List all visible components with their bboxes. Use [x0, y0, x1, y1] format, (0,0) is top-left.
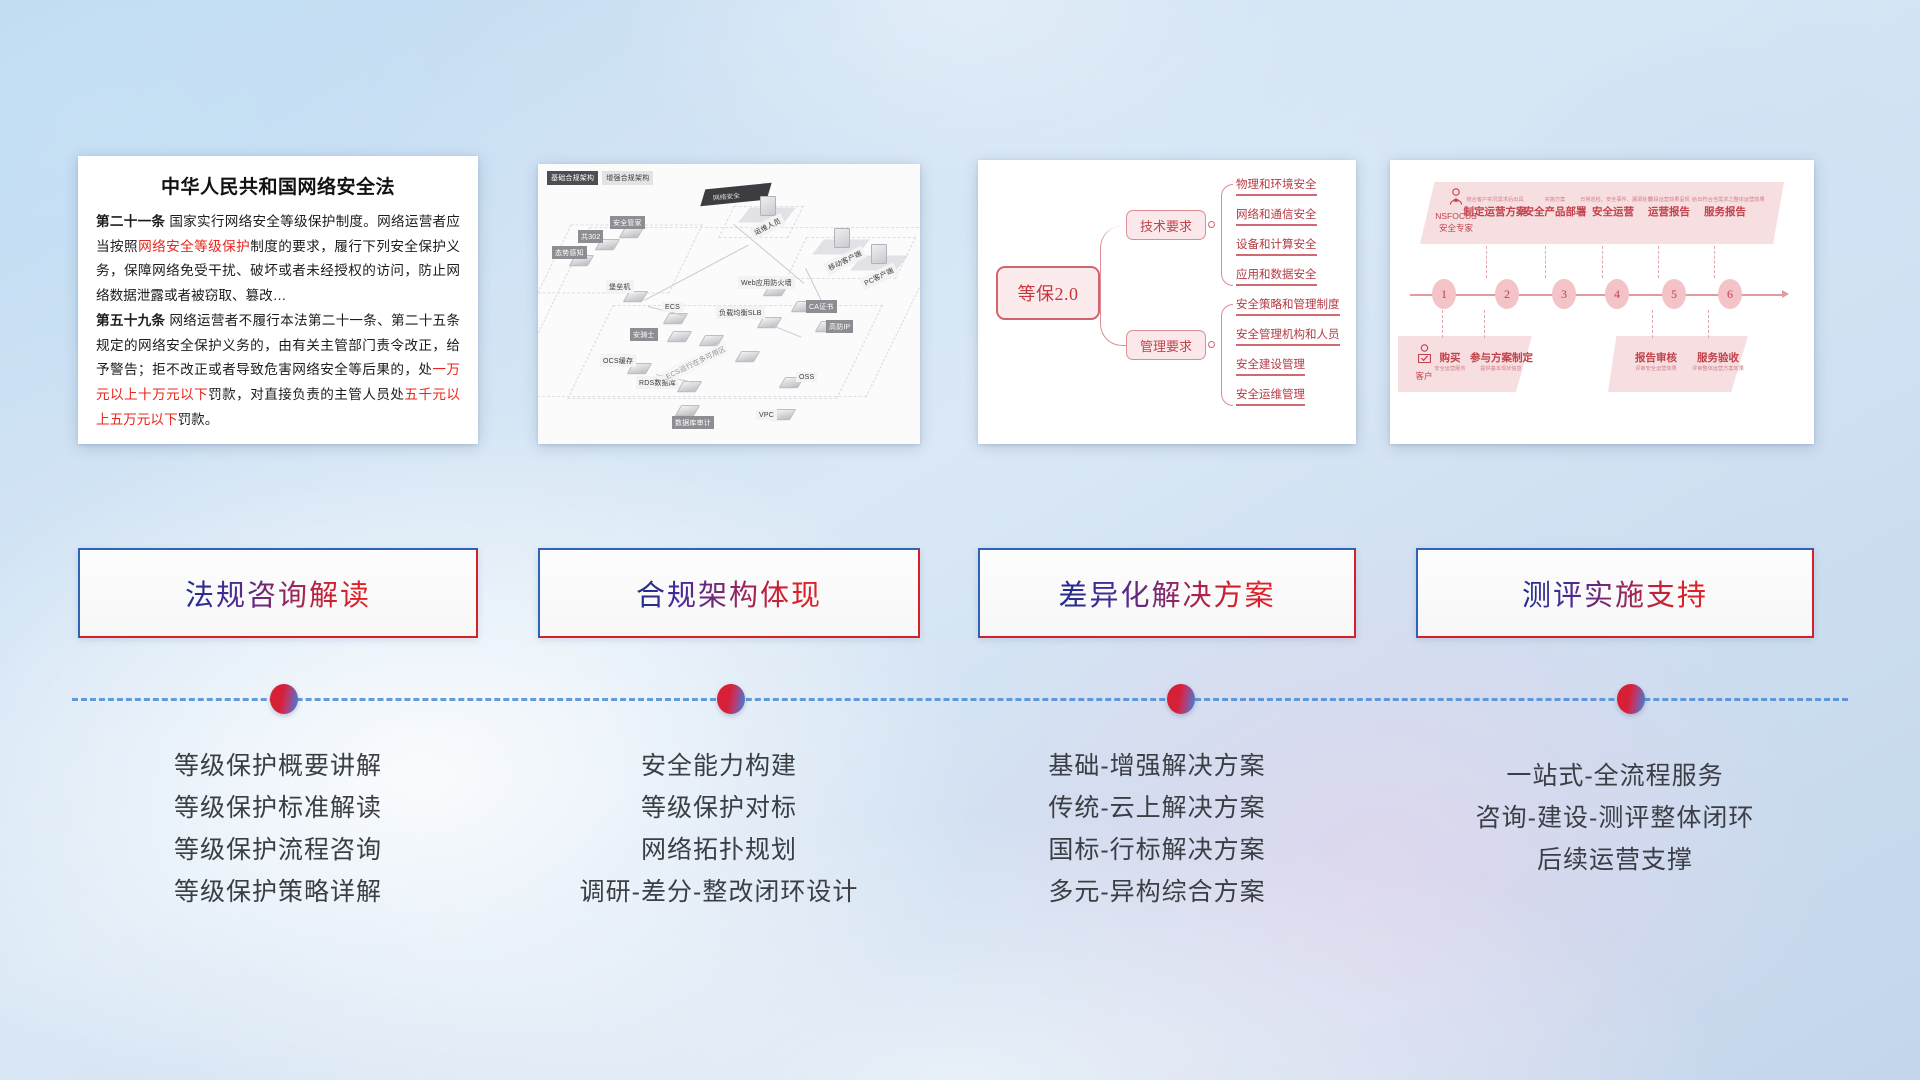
- mindmap-spine-tech-down: [1221, 224, 1233, 286]
- law-article-21-label: 第二十一条: [96, 214, 165, 229]
- timeline-node-6[interactable]: 6: [1718, 279, 1742, 309]
- detail-item: 咨询-建设-测评整体闭环: [1380, 797, 1850, 839]
- timeline-dash-bottom-6: [1708, 310, 1709, 338]
- detail-item: 多元-异构综合方案: [938, 871, 1376, 913]
- detail-column-3: 基础-增强解决方案 传统-云上解决方案 国标-行标解决方案 多元-异构综合方案: [938, 745, 1376, 913]
- arch-node-database-audit: 数据库审计: [672, 416, 714, 429]
- timeline-node-2[interactable]: 2: [1495, 279, 1519, 309]
- button-label-0: 法规咨询解读: [185, 572, 371, 614]
- timeline-dash-top-5: [1658, 246, 1659, 278]
- timeline-dash-top-6: [1714, 246, 1715, 278]
- timeline-dash-top-4: [1602, 246, 1603, 278]
- detail-item: 安全能力构建: [500, 745, 938, 787]
- arch-tab-basic[interactable]: 基础合规架构: [547, 171, 598, 185]
- detail-item: 传统-云上解决方案: [938, 787, 1376, 829]
- detail-column-1: 等级保护概要讲解 等级保护标准解读 等级保护流程咨询 等级保护策略详解: [56, 745, 500, 913]
- arch-node-vpc: VPC: [756, 410, 777, 420]
- mindmap-curve-mgmt: [1100, 292, 1126, 346]
- mindmap-collapse-dot-technical[interactable]: [1208, 221, 1215, 228]
- mindmap-leaf-mgmt-3: 安全运维管理: [1236, 386, 1305, 406]
- detail-item: 等级保护标准解读: [56, 787, 500, 829]
- arch-node-anti-ddos-ip: 高防IP: [826, 320, 853, 333]
- arch-node-ca-certificate: CA证书: [806, 300, 837, 313]
- law-title: 中华人民共和国网络安全法: [96, 172, 460, 199]
- timeline-bottom-step-3: 报告审核 评审安全运营效果: [1628, 350, 1684, 373]
- architecture-tabs: 基础合规架构 增强合规架构: [547, 171, 653, 185]
- arch-icon-mobile-monitor: [834, 228, 850, 248]
- mindmap-leaf-tech-3: 应用和数据安全: [1236, 266, 1317, 286]
- arch-icon-cube-dbaudit: [675, 405, 700, 416]
- rail-dot-1[interactable]: [270, 684, 298, 714]
- timeline-rail: [72, 698, 1848, 700]
- timeline-vendor-sub: 安全专家: [1428, 222, 1484, 234]
- detail-item: 后续运营支撑: [1380, 839, 1850, 881]
- arch-node-oss: OSS: [796, 372, 817, 382]
- law-article-21-highlight: 网络安全等级保护: [138, 239, 250, 254]
- button-compliance-architecture[interactable]: 合规架构体现: [538, 548, 920, 638]
- arch-node-ecs: ECS: [662, 302, 683, 312]
- detail-item: 等级保护概要讲解: [56, 745, 500, 787]
- law-article-59: 第五十九条 网络运营者不履行本法第二十一条、第二十五条规定的网络安全保护义务的，…: [96, 309, 460, 433]
- timeline-arrow-icon: [1782, 290, 1789, 298]
- detail-item: 等级保护策略详解: [56, 871, 500, 913]
- rail-dot-2[interactable]: [717, 684, 745, 714]
- timeline-node-5[interactable]: 5: [1662, 279, 1686, 309]
- timeline-node-3[interactable]: 3: [1552, 279, 1576, 309]
- detail-item: 等级保护对标: [500, 787, 938, 829]
- law-body: 第二十一条 国家实行网络安全等级保护制度。网络运营者应当按照网络安全等级保护制度…: [96, 210, 460, 433]
- timeline-canvas: NSFOCUS 安全专家 客户 1 2 3 4 5 6: [1390, 160, 1814, 444]
- mindmap-canvas: 等保2.0 技术要求 管理要求 物理和环境安全 网络和通信安全 设备和计算安全 …: [978, 160, 1356, 444]
- mindmap-leaf-tech-0: 物理和环境安全: [1236, 176, 1317, 196]
- law-article-59-p2: 罚款，对直接负责的主管人员处: [208, 387, 404, 402]
- timeline-dash-bottom-5: [1652, 310, 1653, 338]
- mindmap-root-node[interactable]: 等保2.0: [996, 266, 1100, 320]
- button-differentiated-solution[interactable]: 差异化解决方案: [978, 548, 1356, 638]
- mindmap-leaf-mgmt-0: 安全策略和管理制度: [1236, 296, 1340, 316]
- arch-node-situational: 态势感知: [552, 246, 587, 259]
- button-label-2: 差异化解决方案: [1058, 572, 1275, 614]
- detail-item: 基础-增强解决方案: [938, 745, 1376, 787]
- button-assessment-support[interactable]: 测评实施支持: [1416, 548, 1814, 638]
- arch-node-ocs-cache: OCS缓存: [600, 354, 636, 367]
- mindmap-curve-tech: [1100, 226, 1126, 294]
- detail-item: 等级保护流程咨询: [56, 829, 500, 871]
- arch-node-waf: Web应用防火墙: [738, 276, 795, 289]
- card-cybersecurity-law[interactable]: 中华人民共和国网络安全法 第二十一条 国家实行网络安全等级保护制度。网络运营者应…: [78, 156, 478, 444]
- timeline-bottom-step-1: 购买 安全运营服务: [1430, 350, 1470, 373]
- mindmap-leaf-mgmt-2: 安全建设管理: [1236, 356, 1305, 376]
- architecture-canvas: 基础合规架构 增强合规架构 网络安全: [538, 164, 920, 444]
- mindmap-leaf-mgmt-1: 安全管理机构和人员: [1236, 326, 1340, 346]
- timeline-bottom-step-4: 服务验收 评审整体运营方案效果: [1688, 350, 1748, 373]
- timeline-top-step-5: 给出符合当需求之整体运营效果 服务报告: [1692, 196, 1758, 219]
- detail-column-4: 一站式-全流程服务 咨询-建设-测评整体闭环 后续运营支撑: [1380, 755, 1850, 881]
- cards-row: 中华人民共和国网络安全法 第二十一条 国家实行网络安全等级保护制度。网络运营者应…: [0, 152, 1920, 452]
- detail-columns: 等级保护概要讲解 等级保护标准解读 等级保护流程咨询 等级保护策略详解 安全能力…: [0, 745, 1920, 1005]
- timeline-node-4[interactable]: 4: [1605, 279, 1629, 309]
- arch-node-bastion-host: 堡垒机: [606, 280, 634, 293]
- timeline-top-step-1: 结合客户实况需求后出具 制定运营方案: [1462, 196, 1528, 219]
- mindmap-leaf-tech-2: 设备和计算安全: [1236, 236, 1317, 256]
- arch-icon-ops-monitor: [760, 196, 776, 216]
- mindmap-branch-technical[interactable]: 技术要求: [1126, 210, 1206, 240]
- button-regulation-consulting[interactable]: 法规咨询解读: [78, 548, 478, 638]
- timeline-dash-top-2: [1486, 246, 1487, 278]
- timeline-node-1[interactable]: 1: [1432, 279, 1456, 309]
- card-mindmap-dengbao[interactable]: 等保2.0 技术要求 管理要求 物理和环境安全 网络和通信安全 设备和计算安全 …: [978, 160, 1356, 444]
- timeline-top-step-2: 实施方案 安全产品部署: [1522, 196, 1588, 219]
- rail-dot-4[interactable]: [1617, 684, 1645, 714]
- detail-item: 调研-差分-整改闭环设计: [500, 871, 938, 913]
- timeline-dash-bottom-1: [1442, 310, 1443, 338]
- card-cloud-architecture[interactable]: 基础合规架构 增强合规架构 网络安全: [538, 164, 920, 444]
- arch-node-shared: 共302: [578, 230, 603, 243]
- timeline-dash-top-3: [1545, 246, 1546, 278]
- card-service-timeline[interactable]: NSFOCUS 安全专家 客户 1 2 3 4 5 6: [1390, 160, 1814, 444]
- law-article-21: 第二十一条 国家实行网络安全等级保护制度。网络运营者应当按照网络安全等级保护制度…: [96, 210, 460, 309]
- law-article-59-p3: 罚款。: [178, 412, 219, 427]
- button-label-3: 测评实施支持: [1522, 572, 1708, 614]
- law-article-59-label: 第五十九条: [96, 313, 165, 328]
- arch-node-security-guardian: 安全管家: [610, 216, 645, 229]
- detail-item: 国标-行标解决方案: [938, 829, 1376, 871]
- rail-dashed-line: [72, 698, 1848, 701]
- rail-dot-3[interactable]: [1167, 684, 1195, 714]
- arch-icon-pc-monitor: [871, 244, 887, 264]
- timeline-dash-bottom-2: [1484, 310, 1485, 338]
- mindmap-spine-mgmt-down: [1221, 344, 1233, 406]
- arch-node-anqishi: 安骑士: [630, 328, 658, 341]
- arch-node-slb: 负载均衡SLB: [716, 306, 765, 319]
- arch-tab-enhanced[interactable]: 增强合规架构: [602, 171, 653, 185]
- detail-item: 网络拓扑规划: [500, 829, 938, 871]
- timeline-bottom-step-2: 参与方案制定 提供基本现状信息: [1470, 350, 1532, 373]
- mindmap-leaf-tech-1: 网络和通信安全: [1236, 206, 1317, 226]
- service-buttons-row: 法规咨询解读 合规架构体现 差异化解决方案 测评实施支持: [0, 548, 1920, 648]
- mindmap-branch-management[interactable]: 管理要求: [1126, 330, 1206, 360]
- detail-column-2: 安全能力构建 等级保护对标 网络拓扑规划 调研-差分-整改闭环设计: [500, 745, 938, 913]
- detail-item: 一站式-全流程服务: [1380, 755, 1850, 797]
- mindmap-collapse-dot-management[interactable]: [1208, 341, 1215, 348]
- button-label-1: 合规架构体现: [636, 572, 822, 614]
